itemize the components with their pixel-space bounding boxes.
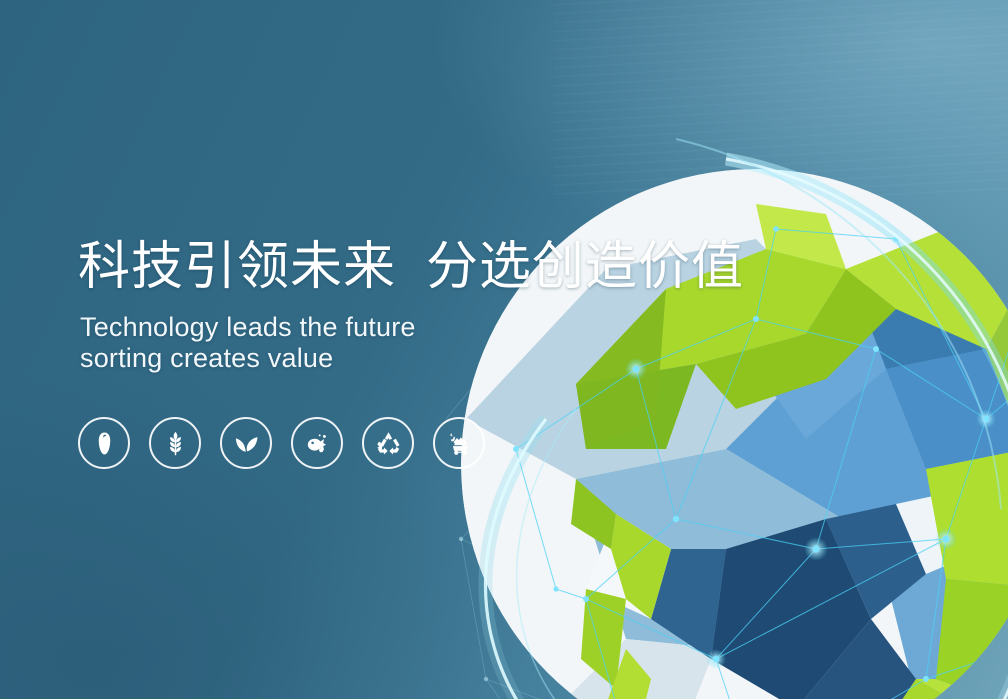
headline-part-2: 分选创造价值 — [426, 238, 744, 296]
fish-icon — [304, 430, 331, 457]
page-title: 科技引领未来分选创造价值 — [78, 236, 758, 298]
tea-leaf-icon — [233, 430, 260, 457]
industry-icon-tea-leaf[interactable] — [220, 417, 272, 469]
hero-banner: 科技引领未来分选创造价值 Technology leads the future… — [0, 0, 1008, 699]
background-streaks — [554, 0, 1008, 196]
industry-icon-fish[interactable] — [291, 417, 343, 469]
industry-icon-row — [78, 417, 485, 469]
headline-part-1: 科技引领未来 — [78, 238, 396, 296]
industry-icon-wheat[interactable] — [149, 417, 201, 469]
subtitle-line-1: Technology leads the future — [80, 312, 758, 343]
recycle-icon — [375, 430, 402, 457]
industry-icon-recycle[interactable] — [362, 417, 414, 469]
grain-seed-icon — [91, 430, 118, 457]
hero-content: 科技引领未来分选创造价值 Technology leads the future… — [78, 236, 758, 374]
subtitle: Technology leads the future sorting crea… — [80, 312, 758, 374]
wheat-icon — [162, 430, 189, 457]
industry-icon-mining-cart[interactable] — [433, 417, 485, 469]
subtitle-line-2: sorting creates value — [80, 343, 758, 374]
mining-cart-icon — [446, 430, 473, 457]
industry-icon-grain-seed[interactable] — [78, 417, 130, 469]
